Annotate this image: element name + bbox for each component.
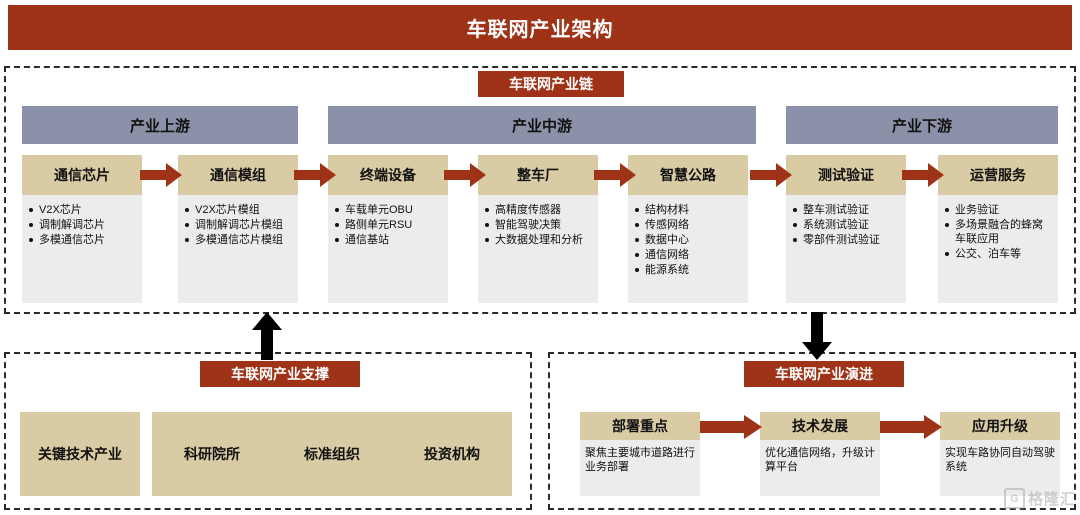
list-item: 多模通信芯片 — [28, 233, 136, 247]
chain-card-3[interactable]: 终端设备 车载单元OBU 路侧单元RSU 通信基站 — [328, 155, 448, 303]
evolution-arrow-right-icon-1 — [700, 415, 762, 439]
chain-card-7-title: 运营服务 — [938, 155, 1058, 195]
list-item: 高精度传感器 — [484, 203, 592, 217]
watermark-text: 格隆汇 — [1028, 488, 1076, 509]
list-item: 通信网络 — [634, 248, 742, 262]
list-item: 智能驾驶决策 — [484, 218, 592, 232]
support-arrow-up-icon — [252, 312, 282, 360]
tier-band-midstream: 产业中游 — [328, 106, 756, 144]
chain-arrow-right-icon-1 — [140, 163, 182, 187]
chain-arrow-right-icon-3 — [444, 163, 486, 187]
list-item: 多模通信芯片模组 — [184, 233, 292, 247]
chain-card-3-list: 车载单元OBU 路侧单元RSU 通信基站 — [334, 203, 442, 247]
chain-arrow-right-icon-4 — [594, 163, 636, 187]
chain-card-7[interactable]: 运营服务 业务验证 多场景融合的蜂窝车联应用 公交、泊车等 — [938, 155, 1058, 303]
list-item: 传感网络 — [634, 218, 742, 232]
chain-card-2[interactable]: 通信模组 V2X芯片模组 调制解调芯片模组 多模通信芯片模组 — [178, 155, 298, 303]
chain-card-3-body: 车载单元OBU 路侧单元RSU 通信基站 — [328, 195, 448, 303]
chain-card-1-body: V2X芯片 调制解调芯片 多模通信芯片 — [22, 195, 142, 303]
list-item: 车载单元OBU — [334, 203, 442, 217]
chain-card-1-title: 通信芯片 — [22, 155, 142, 195]
page-title: 车联网产业架构 — [8, 5, 1072, 50]
list-item: 路侧单元RSU — [334, 218, 442, 232]
list-item: 调制解调芯片 — [28, 218, 136, 232]
list-item: 大数据处理和分析 — [484, 233, 592, 247]
evolution-card-2[interactable]: 技术发展 优化通信网络，升级计算平台 — [760, 412, 880, 496]
evolution-card-2-desc: 优化通信网络，升级计算平台 — [760, 440, 880, 496]
evolution-card-1[interactable]: 部署重点 聚焦主要城市道路进行业务部署 — [580, 412, 700, 496]
chain-arrow-right-icon-2 — [294, 163, 336, 187]
chain-card-5-list: 结构材料 传感网络 数据中心 通信网络 能源系统 — [634, 203, 742, 277]
list-item: 公交、泊车等 — [944, 247, 1052, 261]
chain-card-4-list: 高精度传感器 智能驾驶决策 大数据处理和分析 — [484, 203, 592, 247]
chain-card-6-body: 整车测试验证 系统测试验证 零部件测试验证 — [786, 195, 906, 303]
chain-arrow-right-icon-6 — [902, 163, 944, 187]
support-box-2[interactable]: 科研院所 — [152, 412, 272, 496]
chain-arrow-right-icon-5 — [750, 163, 792, 187]
list-item: 零部件测试验证 — [792, 233, 900, 247]
chain-card-7-body: 业务验证 多场景融合的蜂窝车联应用 公交、泊车等 — [938, 195, 1058, 303]
watermark: G 格隆汇 — [1004, 488, 1076, 509]
evolution-arrow-down-icon — [802, 312, 832, 360]
chain-card-6-title: 测试验证 — [786, 155, 906, 195]
industry-evolution-badge: 车联网产业演进 — [744, 361, 904, 387]
chain-card-2-body: V2X芯片模组 调制解调芯片模组 多模通信芯片模组 — [178, 195, 298, 303]
list-item: 结构材料 — [634, 203, 742, 217]
watermark-logo-icon: G — [1004, 488, 1025, 509]
evolution-card-3[interactable]: 应用升级 实现车路协同自动驾驶系统 — [940, 412, 1060, 496]
evolution-card-1-desc: 聚焦主要城市道路进行业务部署 — [580, 440, 700, 496]
list-item: V2X芯片模组 — [184, 203, 292, 217]
chain-card-4-title: 整车厂 — [478, 155, 598, 195]
industry-chain-badge: 车联网产业链 — [478, 71, 624, 97]
list-item: 整车测试验证 — [792, 203, 900, 217]
evolution-arrow-right-icon-2 — [880, 415, 942, 439]
tier-band-upstream: 产业上游 — [22, 106, 298, 144]
chain-card-2-title: 通信模组 — [178, 155, 298, 195]
chain-card-4[interactable]: 整车厂 高精度传感器 智能驾驶决策 大数据处理和分析 — [478, 155, 598, 303]
support-box-1[interactable]: 关键技术产业 — [20, 412, 140, 496]
chain-card-2-list: V2X芯片模组 调制解调芯片模组 多模通信芯片模组 — [184, 203, 292, 247]
list-item: 数据中心 — [634, 233, 742, 247]
chain-card-5-body: 结构材料 传感网络 数据中心 通信网络 能源系统 — [628, 195, 748, 303]
evolution-card-1-title: 部署重点 — [580, 412, 700, 440]
list-item: 通信基站 — [334, 233, 442, 247]
chain-card-1[interactable]: 通信芯片 V2X芯片 调制解调芯片 多模通信芯片 — [22, 155, 142, 303]
list-item: 系统测试验证 — [792, 218, 900, 232]
chain-card-7-list: 业务验证 多场景融合的蜂窝车联应用 公交、泊车等 — [944, 203, 1052, 261]
support-box-4[interactable]: 投资机构 — [392, 412, 512, 496]
list-item: 调制解调芯片模组 — [184, 218, 292, 232]
chain-card-3-title: 终端设备 — [328, 155, 448, 195]
evolution-card-2-title: 技术发展 — [760, 412, 880, 440]
diagram-root: 车联网产业架构 车联网产业链 产业上游 产业中游 产业下游 通信芯片 V2X芯片… — [0, 0, 1080, 515]
list-item: 业务验证 — [944, 203, 1052, 217]
chain-card-4-body: 高精度传感器 智能驾驶决策 大数据处理和分析 — [478, 195, 598, 303]
industry-support-badge: 车联网产业支撑 — [200, 361, 360, 387]
chain-card-1-list: V2X芯片 调制解调芯片 多模通信芯片 — [28, 203, 136, 247]
tier-band-downstream: 产业下游 — [786, 106, 1058, 144]
evolution-card-3-title: 应用升级 — [940, 412, 1060, 440]
list-item: V2X芯片 — [28, 203, 136, 217]
list-item: 能源系统 — [634, 263, 742, 277]
support-box-3[interactable]: 标准组织 — [272, 412, 392, 496]
chain-card-6-list: 整车测试验证 系统测试验证 零部件测试验证 — [792, 203, 900, 247]
chain-card-6[interactable]: 测试验证 整车测试验证 系统测试验证 零部件测试验证 — [786, 155, 906, 303]
chain-card-5-title: 智慧公路 — [628, 155, 748, 195]
list-item: 多场景融合的蜂窝车联应用 — [944, 218, 1052, 246]
chain-card-5[interactable]: 智慧公路 结构材料 传感网络 数据中心 通信网络 能源系统 — [628, 155, 748, 303]
